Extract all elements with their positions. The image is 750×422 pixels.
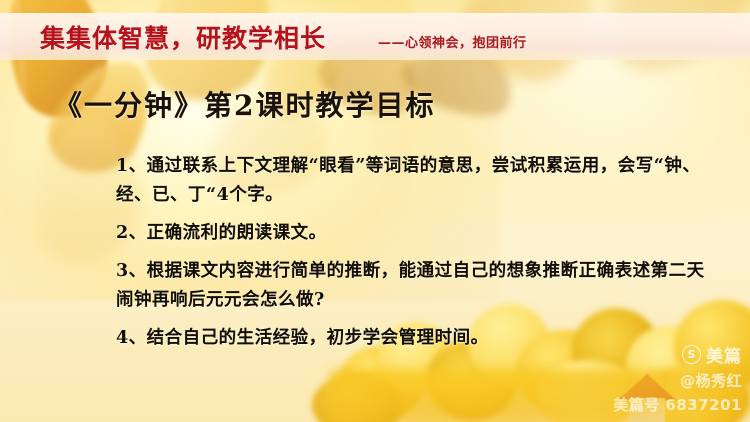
objectives-list: 1、通过联系上下文理解“眼看”等词语的意思，尝试积累运用，会写“钟、经、已、丁“… [116, 152, 716, 353]
banner-subtitle: ——心领神会，抱团前行 [378, 32, 527, 51]
banner-title: 集集体智慧，研教学相长 [40, 19, 326, 55]
objective-item: 1、通过联系上下文理解“眼看”等词语的意思，尝试积累运用，会写“钟、经、已、丁“… [116, 152, 716, 210]
header-banner: 集集体智慧，研教学相长 ——心领神会，抱团前行 [0, 13, 750, 60]
objective-item: 3、根据课文内容进行简单的推断，能通过自己的想象推断正确表述第二天闹钟再响后元元… [116, 257, 716, 315]
slide-title: 《一分钟》第2课时教学目标 [54, 84, 435, 124]
presentation-slide: 集集体智慧，研教学相长 ——心领神会，抱团前行 《一分钟》第2课时教学目标 1、… [0, 0, 750, 422]
objective-item: 2、正确流利的朗读课文。 [116, 219, 716, 248]
objective-item: 4、结合自己的生活经验，初步学会管理时间。 [116, 324, 716, 353]
canopy-foreground-decoration [330, 370, 750, 422]
